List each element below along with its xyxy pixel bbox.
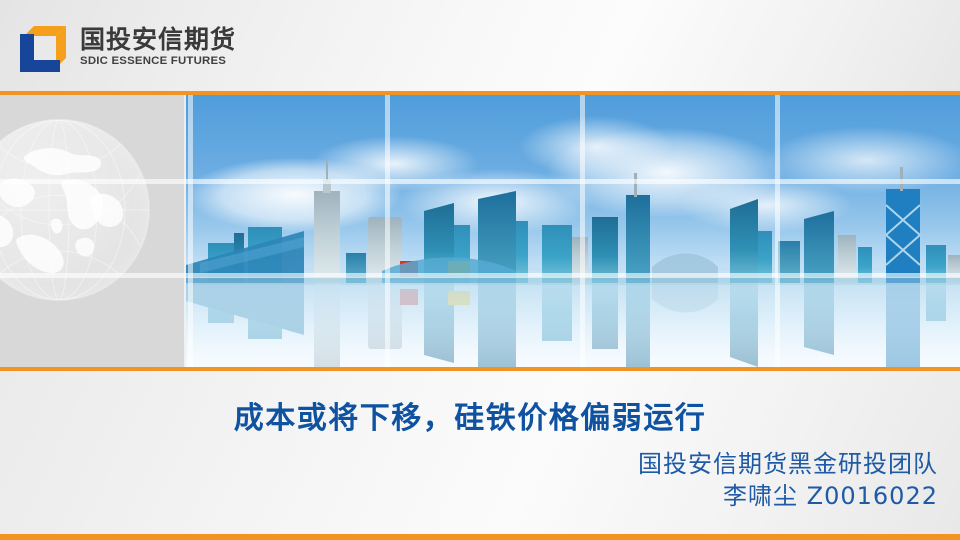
left-grey-panel	[0, 95, 184, 367]
logo-company-name-en: SDIC ESSENCE FUTURES	[80, 54, 239, 68]
skyline-buildings	[186, 95, 960, 367]
slide-root: 国投安信期货 SDIC ESSENCE FUTURES	[0, 0, 960, 540]
page-title: 成本或将下移，硅铁价格偏弱运行	[0, 393, 940, 437]
banner-band	[0, 95, 960, 367]
slide-header: 国投安信期货 SDIC ESSENCE FUTURES	[0, 0, 960, 91]
orange-rule-bottom	[0, 534, 960, 540]
subtitle-author: 李啸尘 Z0016022	[723, 476, 938, 511]
company-logo: 国投安信期货 SDIC ESSENCE FUTURES	[17, 24, 236, 74]
globe-icon	[0, 119, 150, 301]
title-block: 成本或将下移，硅铁价格偏弱运行 国投安信期货黑金研投团队 李啸尘 Z001602…	[0, 371, 960, 534]
subtitle-team: 国投安信期货黑金研投团队	[638, 444, 938, 479]
sdic-cube-logo-icon	[17, 24, 69, 74]
city-skyline-photo	[186, 95, 960, 367]
logo-company-name-cn: 国投安信期货	[80, 26, 236, 53]
logo-text-group: 国投安信期货 SDIC ESSENCE FUTURES	[80, 24, 236, 68]
